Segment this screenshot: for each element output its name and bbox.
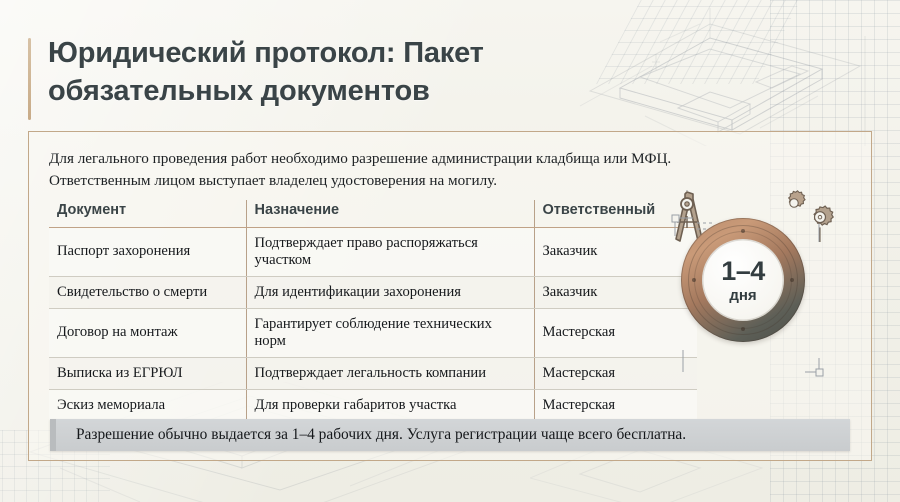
- table-row: Свидетельство о смерти Для идентификации…: [49, 276, 697, 308]
- cell-document: Паспорт захоронения: [49, 228, 246, 277]
- footer-note-text: Разрешение обычно выдается за 1–4 рабочи…: [76, 426, 686, 444]
- cell-document: Свидетельство о смерти: [49, 276, 246, 308]
- badge-rivet: [790, 278, 794, 282]
- table-row: Паспорт захоронения Подтверждает право р…: [49, 228, 697, 277]
- cell-purpose: Гарантирует соблюдение технических норм: [246, 308, 534, 357]
- table-row: Выписка из ЕГРЮЛ Подтверждает легальност…: [49, 357, 697, 389]
- slide-canvas: Юридический протокол: Пакет обязательных…: [0, 0, 900, 502]
- cell-document: Договор на монтаж: [49, 308, 246, 357]
- page-title: Юридический протокол: Пакет обязательных…: [48, 34, 668, 111]
- cell-purpose: Подтверждает легальность компании: [246, 357, 534, 389]
- cell-responsible: Мастерская: [534, 389, 697, 420]
- cell-purpose: Подтверждает право распоряжаться участко…: [246, 228, 534, 277]
- cell-purpose: Для идентификации захоронения: [246, 276, 534, 308]
- documents-table: Документ Назначение Ответственный Паспор…: [49, 200, 697, 420]
- cell-document: Выписка из ЕГРЮЛ: [49, 357, 246, 389]
- intro-line-2: Ответственным лицом выступает владелец у…: [49, 170, 749, 192]
- footer-note-band: Разрешение обычно выдается за 1–4 рабочи…: [50, 419, 850, 451]
- column-header-purpose: Назначение: [246, 200, 534, 228]
- cell-document: Эскиз мемориала: [49, 389, 246, 420]
- duration-badge-area: 1–4 дня: [667, 190, 857, 390]
- table-row: Эскиз мемориала Для проверки габаритов у…: [49, 389, 697, 420]
- column-header-document: Документ: [49, 200, 246, 228]
- content-panel: Для легального проведения работ необходи…: [28, 131, 872, 461]
- page-title-line-2: обязательных документов: [48, 75, 430, 107]
- footer-accent-bar: [50, 419, 56, 451]
- badge-unit: дня: [729, 288, 756, 303]
- page-title-line-1: Юридический протокол: Пакет: [48, 37, 484, 69]
- title-block: Юридический протокол: Пакет обязательных…: [28, 34, 668, 111]
- table-row: Договор на монтаж Гарантирует соблюдение…: [49, 308, 697, 357]
- table-header-row: Документ Назначение Ответственный: [49, 200, 697, 228]
- badge-rivet: [741, 229, 745, 233]
- gear-large-icon: [801, 204, 839, 242]
- title-accent-rule: [28, 38, 31, 120]
- intro-line-1: Для легального проведения работ необходи…: [49, 148, 749, 170]
- badge-rivet: [692, 278, 696, 282]
- badge-rivet: [741, 327, 745, 331]
- intro-paragraph: Для легального проведения работ необходи…: [49, 148, 749, 192]
- cell-purpose: Для проверки габаритов участка: [246, 389, 534, 420]
- duration-badge-ring: 1–4 дня: [681, 218, 805, 342]
- badge-value: 1–4: [721, 258, 765, 285]
- badge-hub: 1–4 дня: [702, 239, 784, 321]
